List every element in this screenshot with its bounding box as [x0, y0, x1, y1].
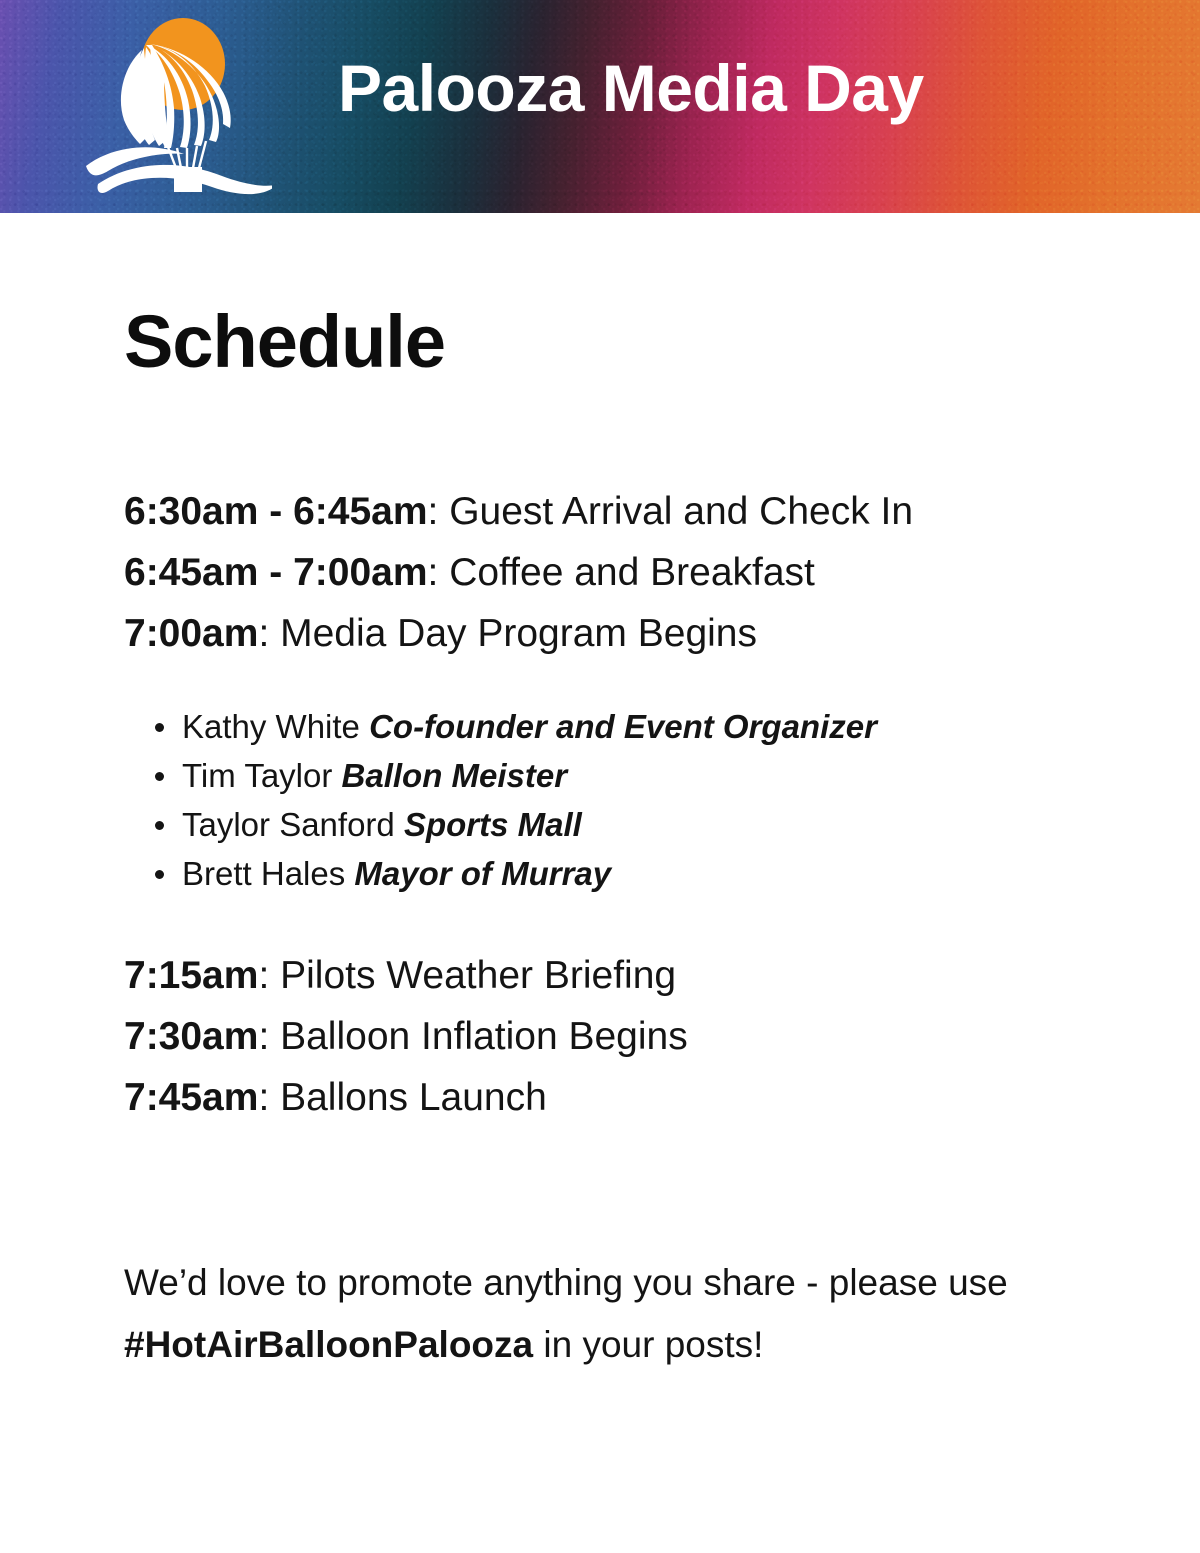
speaker-name: Brett Hales: [182, 855, 354, 892]
page-content: Schedule 6:30am - 6:45am: Guest Arrival …: [0, 213, 1200, 1376]
schedule-entry: 6:45am - 7:00am: Coffee and Breakfast: [124, 542, 1076, 603]
schedule-entry-time: 6:45am - 7:00am: [124, 551, 428, 594]
promo-message: We’d love to promote anything you share …: [124, 1252, 1076, 1376]
schedule-entry-activity: Balloon Inflation Begins: [280, 1015, 688, 1058]
page-banner: Palooza Media Day: [0, 0, 1200, 213]
schedule-entry-activity: Pilots Weather Briefing: [280, 954, 676, 997]
page-title: Schedule: [124, 213, 1076, 379]
list-item: Tim Taylor Ballon Meister: [155, 751, 1076, 800]
promo-text-before: We’d love to promote anything you share …: [124, 1262, 1008, 1303]
schedule-entry-time: 6:30am - 6:45am: [124, 490, 428, 533]
speaker-list: Kathy White Co-founder and Event Organiz…: [124, 702, 1076, 898]
schedule-entry-time: 7:45am: [124, 1076, 258, 1119]
banner-title: Palooza Media Day: [338, 54, 924, 123]
speaker-role: Mayor of Murray: [354, 855, 611, 892]
list-item: Kathy White Co-founder and Event Organiz…: [155, 702, 1076, 751]
hot-air-balloon-icon: [72, 8, 272, 208]
schedule-entry-separator: :: [258, 612, 280, 655]
list-item: Brett Hales Mayor of Murray: [155, 849, 1076, 898]
schedule-entry: 7:15am: Pilots Weather Briefing: [124, 945, 1076, 1006]
schedule-entry-separator: :: [428, 551, 450, 594]
schedule-entry: 7:00am: Media Day Program Begins: [124, 603, 1076, 664]
schedule-entry-time: 7:15am: [124, 954, 258, 997]
schedule-entry-activity: Guest Arrival and Check In: [449, 490, 913, 533]
speaker-role: Sports Mall: [404, 806, 582, 843]
schedule-entry-separator: :: [258, 954, 280, 997]
speaker-role: Ballon Meister: [342, 757, 568, 794]
schedule-entry-time: 7:00am: [124, 612, 258, 655]
schedule-entry-separator: :: [258, 1076, 280, 1119]
schedule-entry-time: 7:30am: [124, 1015, 258, 1058]
promo-hashtag: #HotAirBalloonPalooza: [124, 1324, 533, 1365]
schedule-late-list: 7:15am: Pilots Weather Briefing 7:30am: …: [124, 945, 1076, 1128]
list-item: Taylor Sanford Sports Mall: [155, 800, 1076, 849]
promo-text-after: in your posts!: [533, 1324, 763, 1365]
speaker-role: Co-founder and Event Organizer: [369, 708, 877, 745]
schedule-early-list: 6:30am - 6:45am: Guest Arrival and Check…: [124, 481, 1076, 664]
schedule-entry: 7:30am: Balloon Inflation Begins: [124, 1006, 1076, 1067]
schedule-entry-activity: Coffee and Breakfast: [449, 551, 815, 594]
schedule-entry-activity: Ballons Launch: [280, 1076, 547, 1119]
speaker-name: Taylor Sanford: [182, 806, 404, 843]
schedule-entry-separator: :: [258, 1015, 280, 1058]
schedule-entry-separator: :: [428, 490, 450, 533]
speaker-name: Tim Taylor: [182, 757, 342, 794]
schedule-entry: 6:30am - 6:45am: Guest Arrival and Check…: [124, 481, 1076, 542]
schedule-entry: 7:45am: Ballons Launch: [124, 1067, 1076, 1128]
schedule-entry-activity: Media Day Program Begins: [280, 612, 757, 655]
speaker-name: Kathy White: [182, 708, 369, 745]
